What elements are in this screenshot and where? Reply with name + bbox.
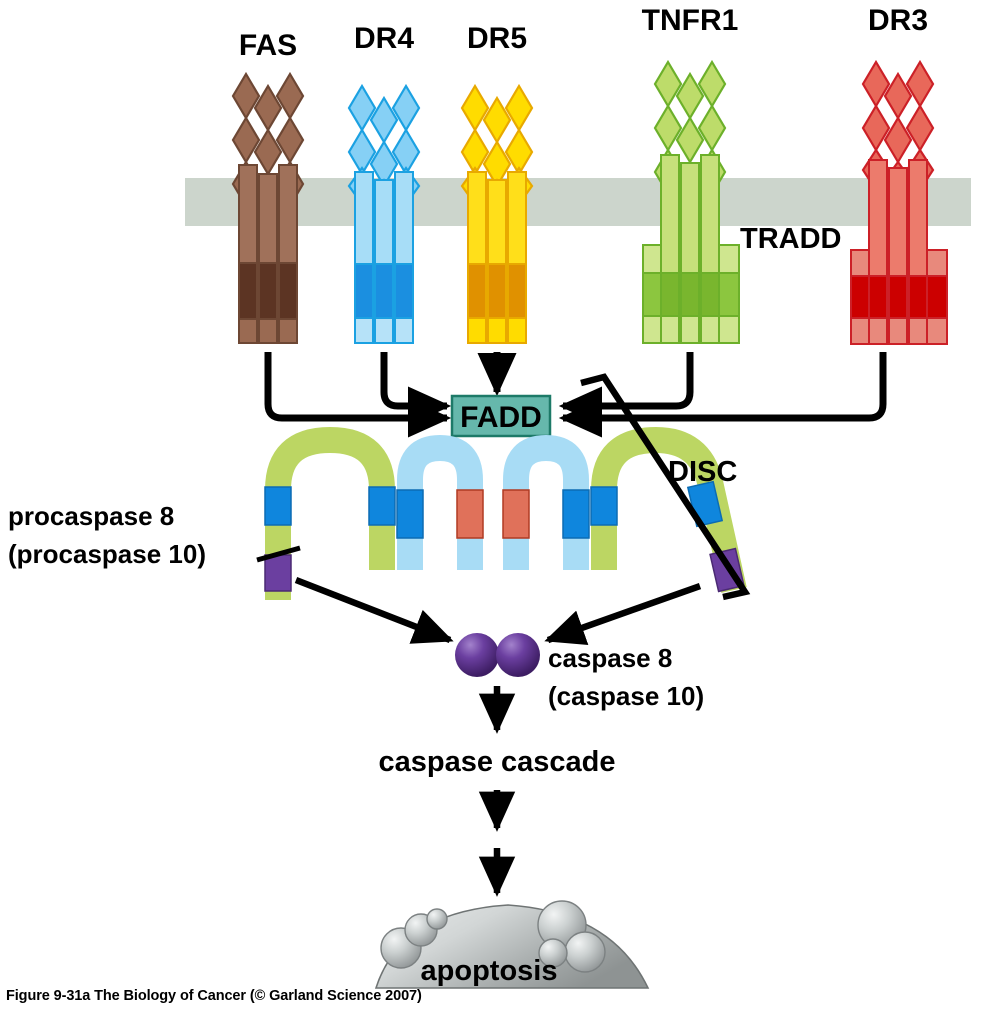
tnfr1-tradd-right — [717, 245, 739, 343]
fadd-hairpin-right — [503, 448, 589, 570]
dr4-transmembrane-and-tail — [355, 172, 413, 343]
apoptotic-cell: apoptosis — [376, 901, 648, 988]
death-receptor-pathway-diagram: FAS — [0, 0, 989, 1024]
procaspase-left-strand — [265, 440, 395, 600]
receptor-label-dr5: DR5 — [467, 22, 527, 55]
figure-caption: Figure 9-31a The Biology of Cancer (© Ga… — [6, 988, 422, 1004]
caspase-label-line1: caspase 8 — [548, 643, 672, 673]
procaspase-label-line2: (procaspase 10) — [8, 539, 206, 569]
apoptosis-label: apoptosis — [421, 955, 558, 987]
caspase-8-dimer[interactable] — [455, 633, 540, 677]
disc-label: DISC — [668, 456, 737, 488]
fadd-label: FADD — [460, 401, 542, 434]
receptor-fas[interactable]: FAS — [233, 29, 303, 343]
receptor-label-dr4: DR4 — [354, 22, 414, 55]
caspase-activation-arrows — [296, 580, 700, 640]
fadd-box[interactable]: FADD — [452, 396, 550, 436]
receptor-label-fas: FAS — [239, 29, 297, 62]
tradd-label: TRADD — [740, 223, 842, 255]
caspase-label: caspase 8 (caspase 10) — [548, 643, 704, 711]
procaspase-label: procaspase 8 (procaspase 10) — [8, 501, 300, 569]
figure-root: FAS — [0, 0, 989, 1024]
fadd-hairpin-left — [397, 448, 483, 570]
dr3-tradd-right — [925, 250, 947, 344]
receptor-dr3[interactable]: DR3 — [851, 4, 947, 344]
receptor-label-dr3: DR3 — [868, 4, 928, 37]
tnfr1-transmembrane-and-tail — [661, 155, 719, 343]
membrane-bleb-5 — [565, 932, 605, 972]
caspase-sphere-left — [455, 633, 499, 677]
receptor-to-fadd-arrows — [268, 352, 883, 418]
caspase-cascade-label: caspase cascade — [378, 746, 615, 778]
procaspase-label-line1: procaspase 8 — [8, 501, 174, 531]
receptor-label-tnfr1: TNFR1 — [642, 4, 739, 37]
receptor-tnfr1[interactable]: TNFR1 — [642, 4, 739, 343]
receptor-dr4[interactable]: DR4 — [349, 22, 419, 343]
caspase-sphere-right — [496, 633, 540, 677]
receptor-dr5[interactable]: DR5 — [462, 22, 532, 343]
caspase-label-line2: (caspase 10) — [548, 681, 704, 711]
dr5-transmembrane-and-tail — [468, 172, 526, 343]
dr3-transmembrane-and-tail — [869, 160, 927, 344]
membrane-bleb-3 — [427, 909, 447, 929]
fas-transmembrane-and-tail — [239, 165, 297, 343]
